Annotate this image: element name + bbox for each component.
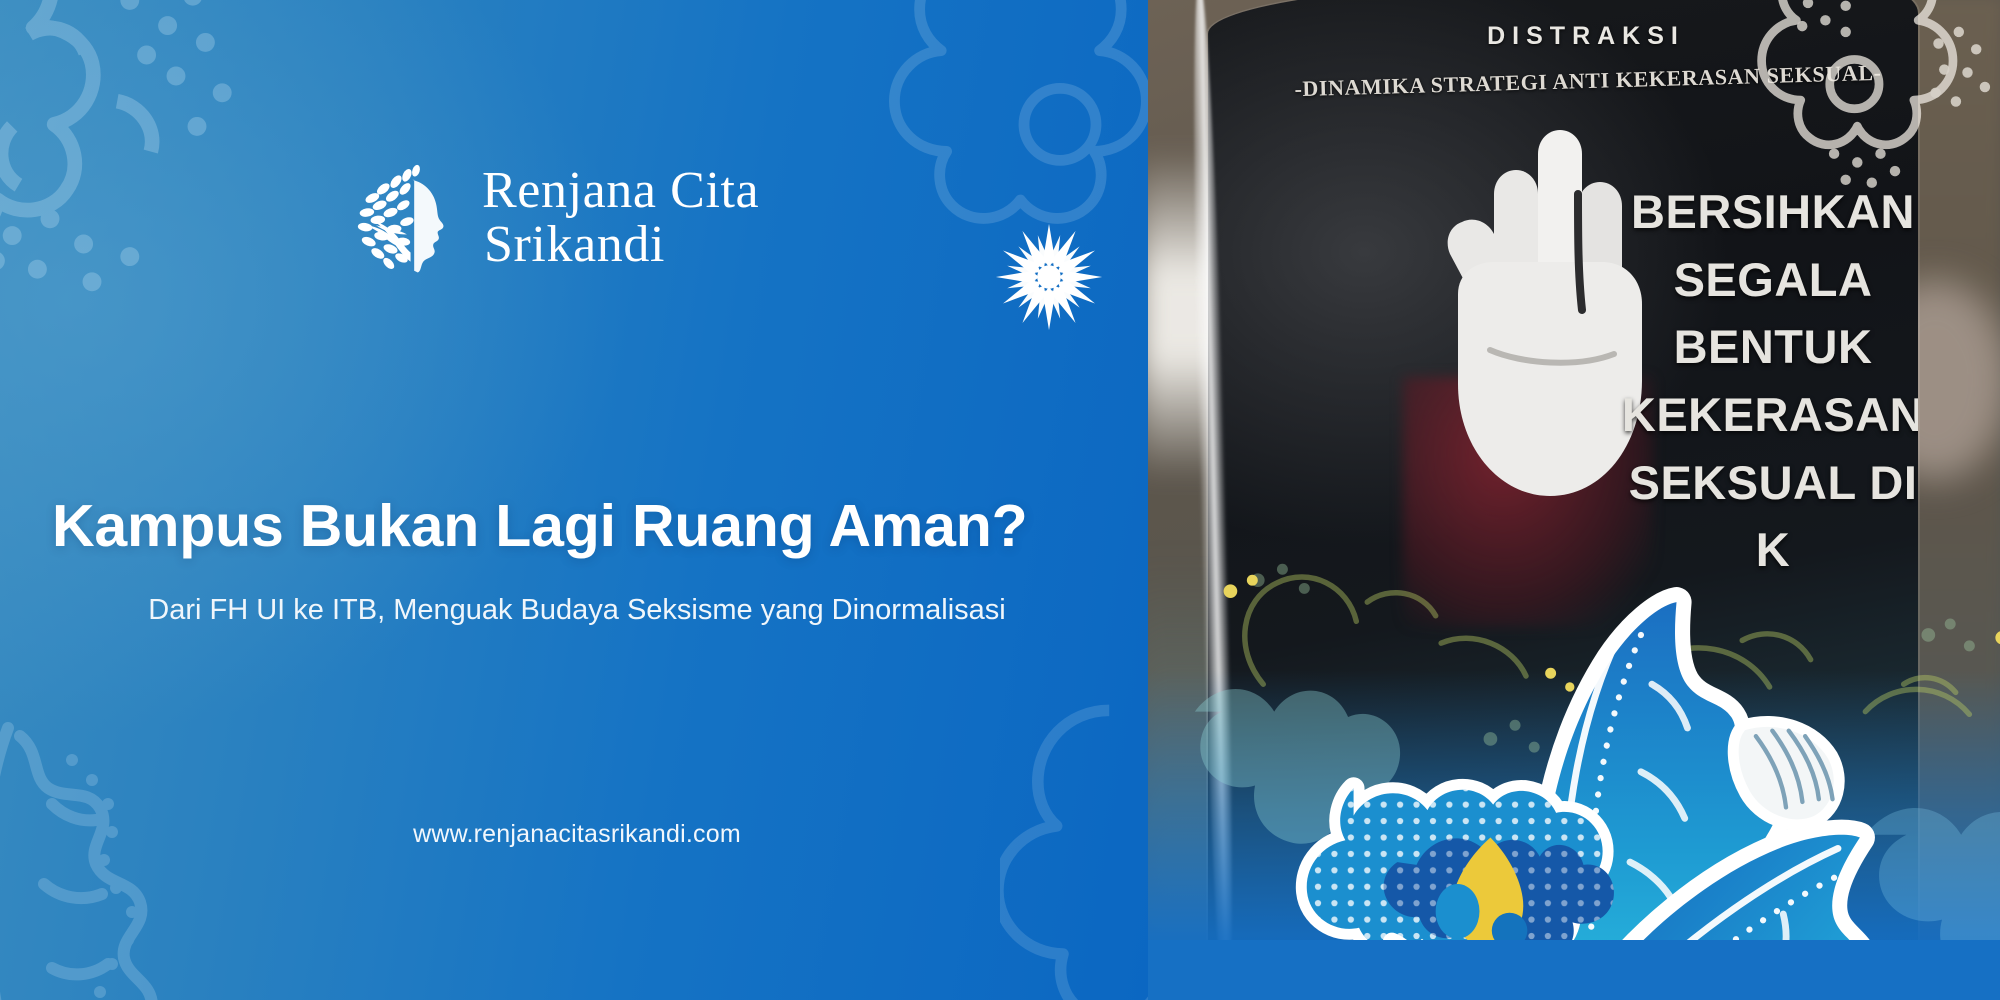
batik-floral-ornament-icon <box>1148 520 2000 1000</box>
website-url[interactable]: www.renjanacitasrikandi.com <box>72 820 1082 849</box>
left-blue-panel: Renjana Cita Srikandi <box>0 0 1148 1000</box>
tree-face-logo-icon <box>356 162 456 274</box>
batik-watermark-bottomleft-icon <box>0 700 304 1000</box>
brand-logo: Renjana Cita Srikandi <box>356 162 759 274</box>
page-title: Kampus Bukan Lagi Ruang Aman? <box>52 492 1112 560</box>
slogan-line: SEKSUAL DI <box>1608 449 1918 517</box>
page-subtitle: Dari FH UI ke ITB, Menguak Budaya Seksis… <box>72 590 1082 631</box>
sunburst-flower-icon <box>990 218 1108 336</box>
slogan-line: KEKERASAN <box>1608 381 1918 449</box>
photo-bottom-solid-bar <box>1148 940 2000 1000</box>
slogan-line: SEGALA <box>1608 246 1918 314</box>
batik-floral-overlay-topright-icon <box>1750 0 2000 232</box>
photo-panel: DISTRAKSI -DINAMIKA STRATEGI ANTI KEKERA… <box>1148 0 2000 1000</box>
social-media-banner: Renjana Cita Srikandi <box>0 0 2000 1000</box>
brand-wordmark: Renjana Cita Srikandi <box>482 164 759 272</box>
batik-watermark-topleft-icon <box>0 0 302 328</box>
brand-name-line2: Srikandi <box>482 218 759 272</box>
brand-name-line1: Renjana Cita <box>482 164 759 218</box>
slogan-line: BENTUK <box>1608 313 1918 381</box>
